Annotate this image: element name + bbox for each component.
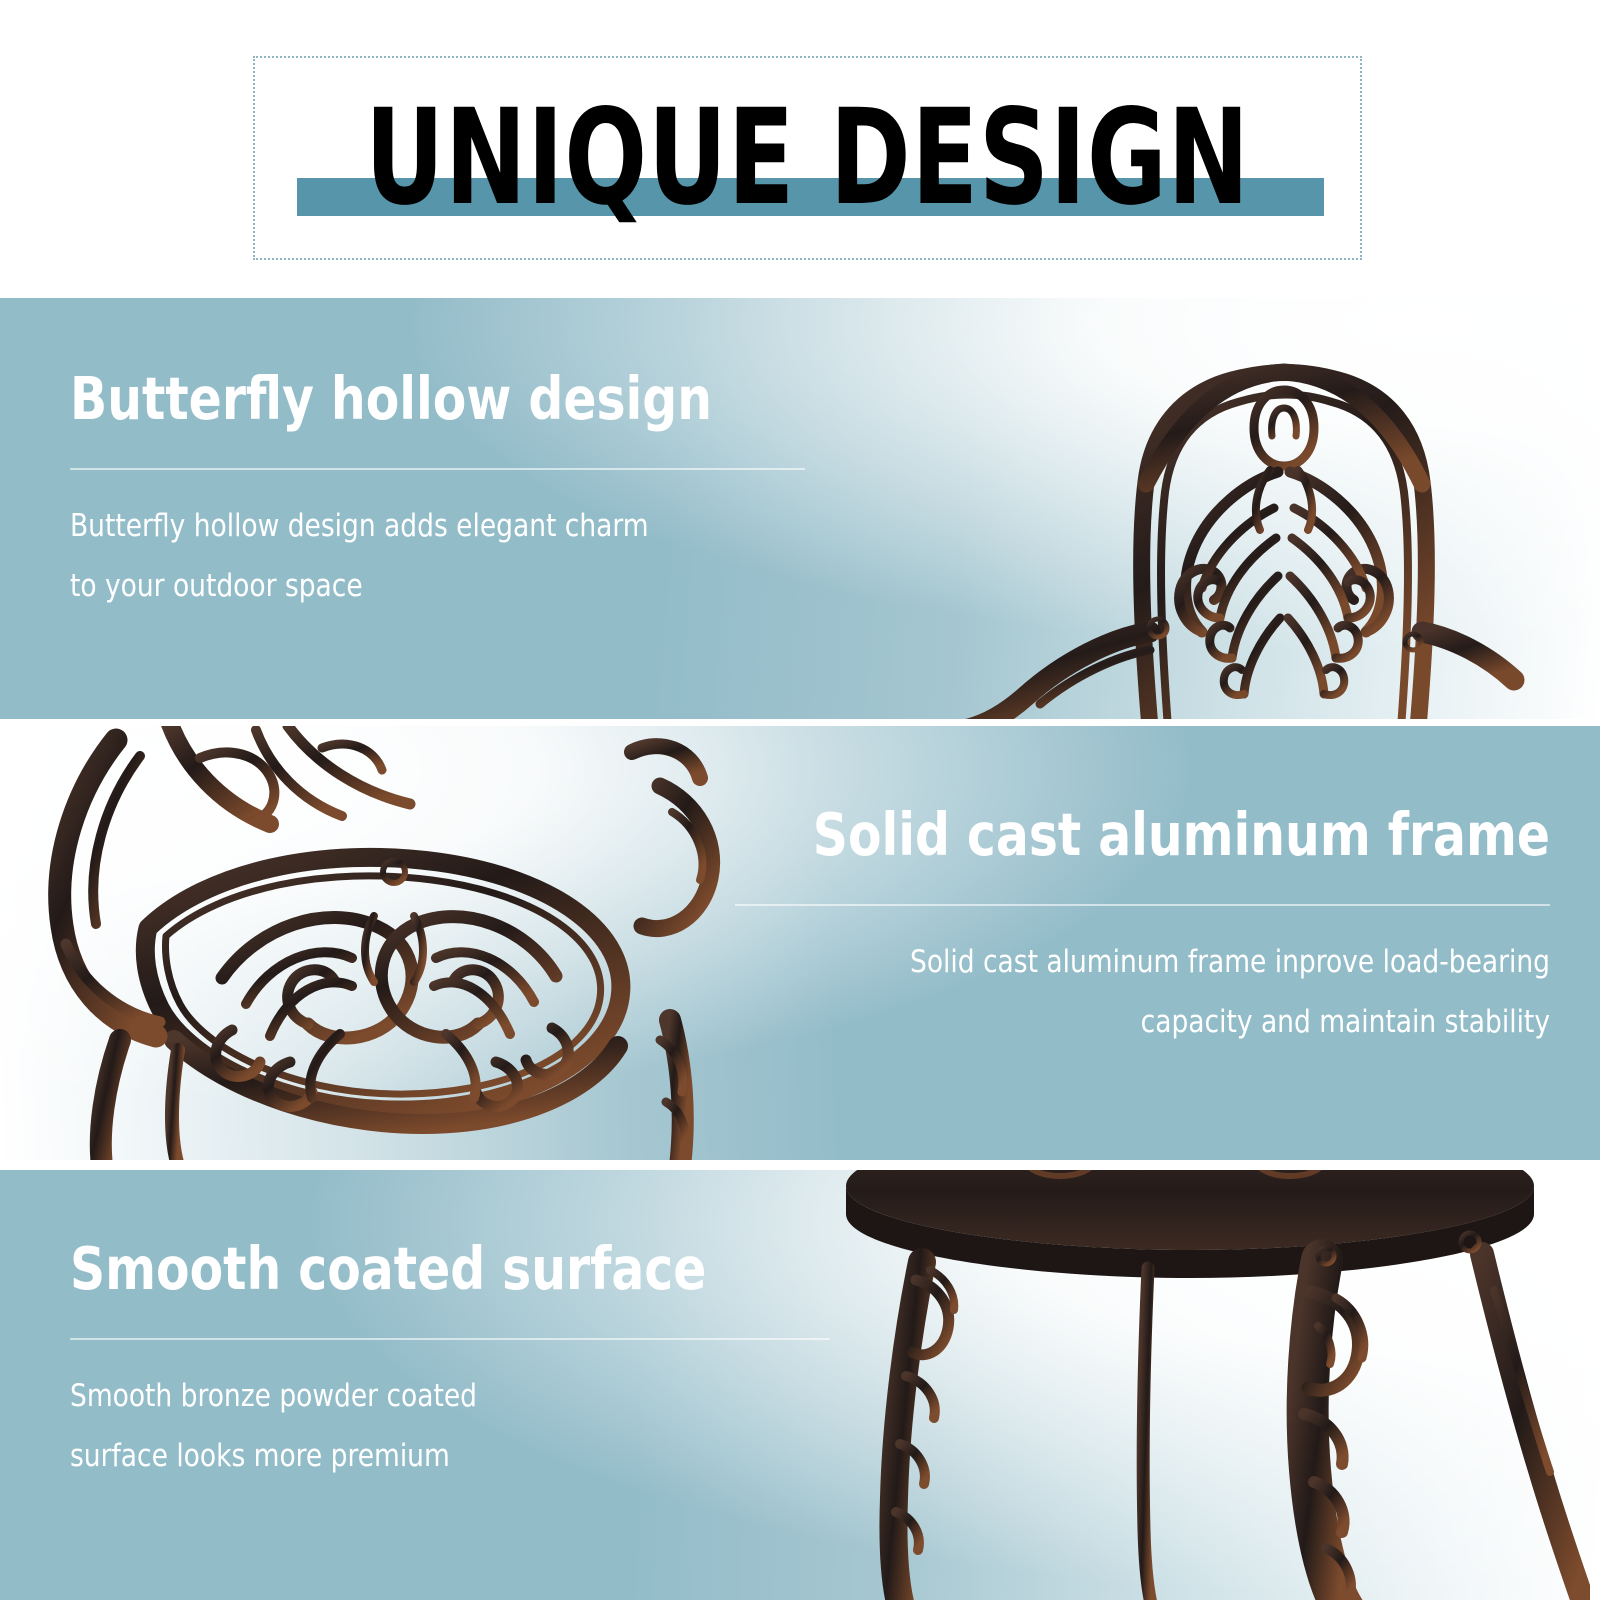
panel-body: Smooth bronze powder coated surface look… (70, 1366, 821, 1487)
panel-heading: Butterfly hollow design (70, 368, 769, 430)
header-band: UNIQUE DESIGN (0, 0, 1600, 298)
panel-body-line: Smooth bronze powder coated (70, 1366, 821, 1426)
panel-body-line: capacity and maintain stability (757, 992, 1550, 1052)
feature-panel-smooth-coated-surface: Smooth coated surface Smooth bronze powd… (0, 1170, 1600, 1600)
panel-body-line: to your outdoor space (70, 556, 792, 616)
panel-heading: Solid cast aluminum frame (782, 804, 1550, 866)
panel-body: Butterfly hollow design adds elegant cha… (70, 496, 792, 617)
page-title: UNIQUE DESIGN (353, 56, 1262, 260)
panel-body-line: Butterfly hollow design adds elegant cha… (70, 496, 792, 556)
feature-panel-solid-cast-aluminum-frame: Solid cast aluminum frame Solid cast alu… (0, 726, 1600, 1160)
panel-divider (70, 468, 805, 470)
panel-body: Solid cast aluminum frame inprove load-b… (757, 932, 1550, 1053)
panel-text-block: Butterfly hollow design Butterfly hollow… (70, 368, 830, 617)
panel-heading: Smooth coated surface (70, 1238, 797, 1300)
panel-text-block: Smooth coated surface Smooth bronze powd… (70, 1238, 860, 1487)
panel-body-line: surface looks more premium (70, 1426, 821, 1486)
panel-divider (735, 904, 1550, 906)
feature-panel-butterfly-hollow-design: Butterfly hollow design Butterfly hollow… (0, 298, 1600, 719)
panel-text-block: Solid cast aluminum frame Solid cast alu… (715, 804, 1550, 1053)
panel-divider (70, 1338, 830, 1340)
panel-body-line: Solid cast aluminum frame inprove load-b… (757, 932, 1550, 992)
